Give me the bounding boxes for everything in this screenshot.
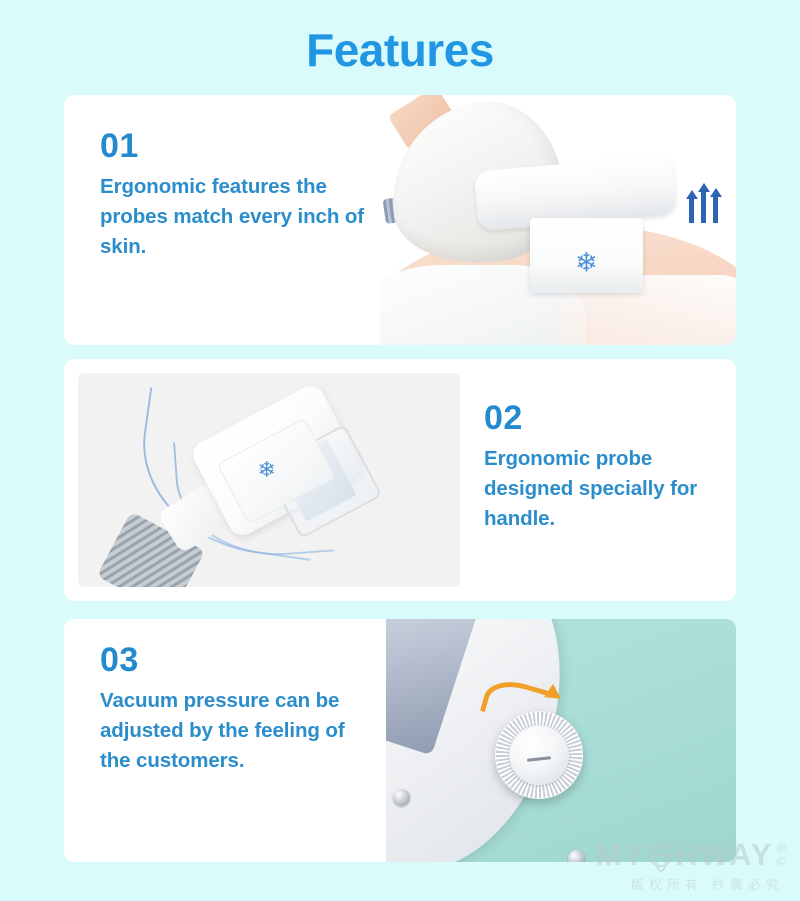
arrow-up-icon <box>689 197 694 223</box>
copyright-mark-icon: © <box>776 855 786 868</box>
watermark-brand-right: HWAY <box>675 839 773 870</box>
arrow-up-icon <box>713 195 718 223</box>
snowflake-icon: ❄ <box>575 249 598 276</box>
feature-image-02-wrapper: ❄ <box>64 359 460 601</box>
feature-card-02: 02 Ergonomic probe designed specially fo… <box>64 359 736 601</box>
knob-pointer-icon <box>526 756 550 761</box>
feature-text-block-01: 01 Ergonomic features the probes match e… <box>64 95 380 345</box>
up-arrows-icon <box>689 190 718 223</box>
feature-number-02: 02 <box>484 401 726 437</box>
feature-number-03: 03 <box>100 643 376 679</box>
feature-number-01: 01 <box>100 129 370 165</box>
screw-icon <box>568 850 585 862</box>
applicator-head-shape: ❄ <box>530 218 644 293</box>
watermark-brand-left: MY <box>596 839 647 870</box>
feature-image-03 <box>386 619 736 862</box>
watermark: MY HWAY ® © 版权所有 抄袭必究 <box>596 839 786 893</box>
feature-card-01: 01 Ergonomic features the probes match e… <box>64 95 736 345</box>
feature-description-01: Ergonomic features the probes match ever… <box>100 172 370 262</box>
globe-icon <box>648 842 673 867</box>
knob-inner-face[interactable] <box>509 725 569 785</box>
page-title: Features <box>0 0 800 73</box>
feature-description-02: Ergonomic probe designed specially for h… <box>484 444 726 534</box>
feature-description-03: Vacuum pressure can be adjusted by the f… <box>100 686 376 776</box>
watermark-marks: ® © <box>776 841 786 868</box>
screw-icon <box>393 789 410 806</box>
vacuum-pressure-knob[interactable] <box>495 711 583 799</box>
registered-mark-icon: ® <box>776 841 786 854</box>
snowflake-icon: ❄ <box>258 459 276 481</box>
feature-text-block-03: 03 Vacuum pressure can be adjusted by th… <box>64 619 386 862</box>
feature-text-block-02: 02 Ergonomic probe designed specially fo… <box>460 359 736 601</box>
watermark-brand-row: MY HWAY ® © <box>596 839 786 870</box>
watermark-chinese-notice: 版权所有 抄袭必究 <box>596 874 786 893</box>
feature-image-02: ❄ <box>78 373 460 587</box>
feature-image-01: ❄ <box>380 95 736 345</box>
feature-card-03: 03 Vacuum pressure can be adjusted by th… <box>64 619 736 862</box>
arrow-up-icon <box>701 190 706 223</box>
